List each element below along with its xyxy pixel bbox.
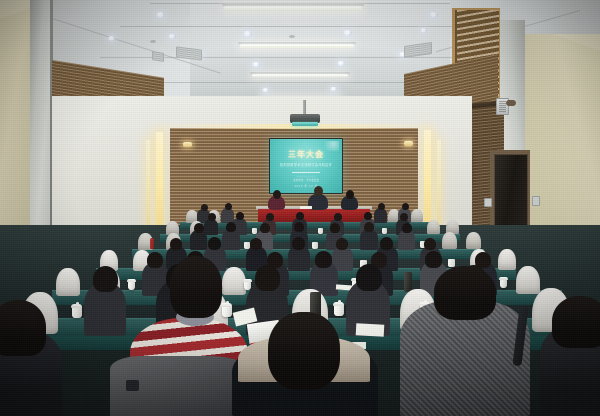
chair [498, 249, 516, 270]
speaker-bracket-right [506, 100, 516, 106]
audience-hair [402, 223, 412, 233]
audience-head [201, 204, 208, 211]
head-table-document [300, 206, 312, 209]
audience-head [334, 213, 342, 221]
light-trough [252, 74, 348, 77]
downlight [343, 30, 352, 36]
teacup-knob [76, 302, 79, 305]
downlight [337, 61, 345, 66]
audience-person [360, 229, 378, 250]
teacup-knob [424, 300, 427, 303]
downlight [330, 87, 337, 91]
audience-hair [336, 238, 348, 250]
chair [466, 232, 481, 249]
audience-hair [170, 238, 182, 250]
teacup [318, 228, 323, 234]
audience-hair [226, 222, 236, 232]
backpack-buckle [126, 380, 139, 391]
screen-divider-rule [292, 172, 320, 173]
audience-person [204, 219, 218, 235]
audience-person [190, 230, 207, 250]
downlight [168, 34, 176, 39]
chair [411, 209, 423, 222]
person-red-sweater-hair [170, 256, 222, 318]
speaker-center-head [314, 186, 323, 196]
chair [427, 220, 440, 234]
screen-date-text: 2015 年 12 月 [270, 184, 342, 188]
screen-title-text: 三年大会 [270, 150, 342, 159]
downlight [262, 88, 269, 92]
audience-hair [194, 223, 204, 233]
audience-hair [255, 265, 280, 291]
audience-head [402, 203, 409, 210]
audience-head [266, 213, 274, 221]
wall-glow-strip-left-2 [146, 140, 150, 232]
downlight [243, 31, 252, 37]
speaker-left-head [273, 190, 281, 199]
wall-sconce-left [183, 142, 192, 147]
audience-hair [315, 251, 332, 268]
audience-head [400, 213, 408, 221]
audience-hair [424, 238, 436, 250]
audience-hair [330, 223, 340, 233]
audience-head [364, 212, 372, 220]
audience-hair [294, 222, 304, 232]
teacup-knob [226, 301, 229, 304]
person-grey-tweed-hair [434, 266, 496, 320]
audience-person [398, 230, 415, 250]
downlight [429, 12, 438, 18]
conference-hall-photo: 三年大会 学术交流研讨会 三年大会 学术交流研讨会 [0, 0, 600, 416]
audience-head [296, 212, 304, 220]
water-bottle [150, 238, 154, 249]
audience-hair [93, 266, 118, 292]
teacup [222, 305, 232, 317]
wall-glow-strip-right-2 [437, 140, 441, 232]
audience-hair [425, 251, 442, 268]
teacup-lid [499, 277, 508, 280]
downlight [420, 28, 427, 33]
projection-screen-frame: 三年大会 热烈祝贺学术交流研讨会马利召开 ———————— 主办单位：学术委员会… [269, 138, 343, 194]
projector-lens-glow [292, 122, 318, 126]
door-switch-right-2[interactable] [532, 196, 540, 206]
teacup [72, 306, 82, 318]
downlight [252, 62, 260, 67]
teacup-knob [338, 300, 341, 303]
teacup-lid [243, 279, 252, 282]
audience-hair [356, 264, 382, 291]
teacup [382, 228, 387, 234]
teacup [128, 281, 135, 290]
speaker-right-head [346, 190, 354, 199]
ceiling-air-vent [152, 51, 164, 62]
audience-hair [260, 223, 270, 233]
ceiling-soffit-line [120, 26, 480, 27]
downlight [156, 12, 165, 18]
audience-hair [208, 237, 221, 250]
chair [56, 268, 80, 296]
light-trough [224, 6, 362, 11]
audience-hair [147, 252, 163, 268]
person-left-edge-hair [0, 300, 46, 356]
person-right-edge-hair [552, 296, 600, 348]
audience-hair [364, 222, 374, 232]
audience-head [378, 203, 385, 210]
person-black-coat-hair [268, 312, 340, 390]
downlight [108, 36, 115, 41]
smoke-detector [150, 40, 156, 43]
audience-hair [380, 237, 393, 250]
screen-body-line-1: ———————— [270, 175, 342, 178]
audience-hair [250, 238, 262, 250]
smoke-detector [289, 35, 295, 38]
audience-head [236, 212, 244, 220]
audience-head [225, 203, 232, 210]
chair [516, 266, 540, 294]
teacup [312, 242, 318, 249]
vacuum-flask [404, 272, 412, 292]
door-switch-right[interactable] [484, 198, 492, 207]
wall-glow-strip-left [156, 132, 163, 236]
audience-hair [292, 237, 305, 250]
audience-person [222, 229, 240, 250]
teacup [500, 279, 507, 288]
teacup-lid [127, 279, 136, 282]
teacup [334, 304, 344, 316]
audience-person [374, 208, 387, 223]
light-trough [240, 44, 354, 48]
chair [442, 232, 457, 249]
teacup [448, 259, 455, 267]
wall-sconce-right [404, 141, 413, 146]
screen-subtitle-text: 热烈祝贺学术交流研讨会马利召开 [270, 163, 342, 167]
audience-head [208, 213, 216, 221]
projection-screen: 三年大会 热烈祝贺学术交流研讨会马利召开 ———————— 主办单位：学术委员会… [270, 139, 342, 193]
screen-body-line-2: 主办单位：学术委员会 [270, 179, 342, 182]
document-sheet [356, 323, 385, 336]
